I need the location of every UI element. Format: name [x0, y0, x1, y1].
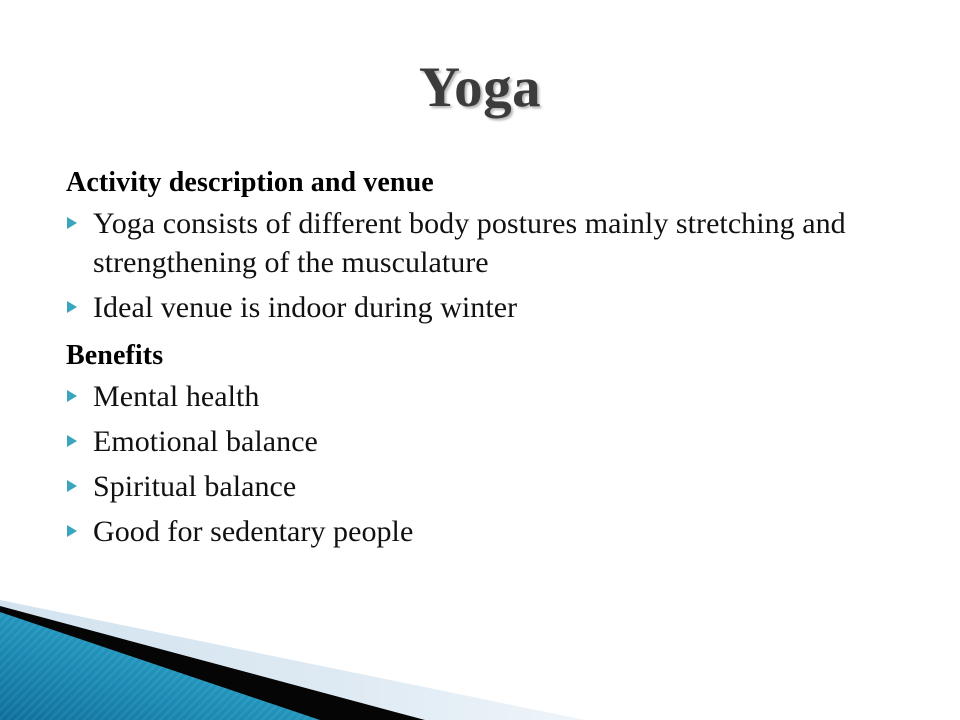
triangle-right-bullet-icon — [66, 288, 93, 314]
list-item: Yoga consists of different body postures… — [66, 204, 896, 282]
diagonal-corner-ribbon — [0, 590, 700, 720]
triangle-right-bullet-icon — [66, 204, 93, 230]
list-item: Emotional balance — [66, 422, 896, 461]
triangle-right-bullet-icon — [66, 422, 93, 448]
list-item-label: Good for sedentary people — [93, 512, 896, 551]
list-item-label: Yoga consists of different body postures… — [93, 204, 896, 282]
slide-body: Activity description and venue Yoga cons… — [66, 166, 896, 557]
list-item-label: Emotional balance — [93, 422, 896, 461]
list-item: Ideal venue is indoor during winter — [66, 288, 896, 327]
list-item: Spiritual balance — [66, 467, 896, 506]
list-item-label: Spiritual balance — [93, 467, 896, 506]
list-item-label: Mental health — [93, 377, 896, 416]
list-item: Good for sedentary people — [66, 512, 896, 551]
list-item-label: Ideal venue is indoor during winter — [93, 288, 896, 327]
triangle-right-bullet-icon — [66, 377, 93, 403]
page-title: Yoga — [0, 58, 960, 118]
presentation-slide: Yoga Activity description and venue Yoga… — [0, 0, 960, 720]
section-heading-activity: Activity description and venue — [66, 166, 896, 200]
list-item: Mental health — [66, 377, 896, 416]
triangle-right-bullet-icon — [66, 512, 93, 538]
section-heading-benefits: Benefits — [66, 339, 896, 373]
triangle-right-bullet-icon — [66, 467, 93, 493]
